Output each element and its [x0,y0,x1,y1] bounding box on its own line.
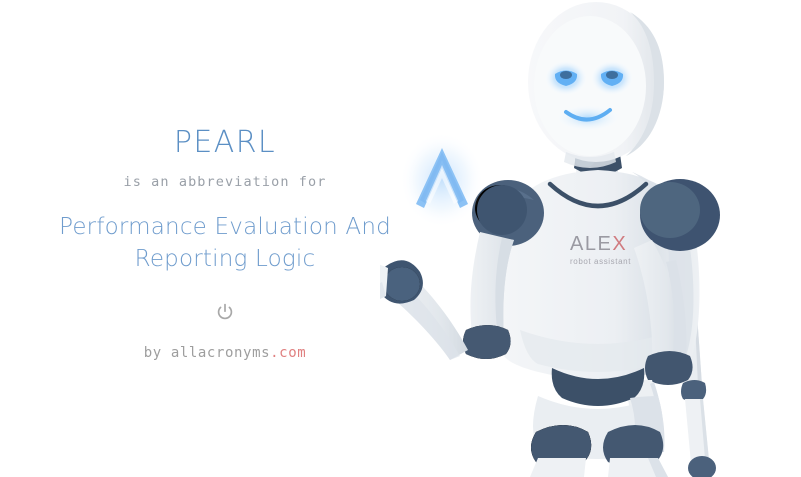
attribution-line[interactable]: by allacronyms.com [144,345,307,361]
power-icon[interactable] [216,303,234,321]
robot-head [528,2,664,168]
acronym-definition-page: ALEX robot assistant PEARL is an abbrevi… [0,0,801,477]
attribution-tld[interactable]: .com [270,345,306,361]
abbreviation-connector-text: is an abbreviation for [123,174,326,190]
attribution-brand[interactable]: allacronyms [171,345,270,361]
power-icon-container[interactable] [216,301,234,323]
definition-text-panel: PEARL is an abbreviation for Performance… [0,0,450,477]
chest-badge-name: ALEX [570,233,627,255]
attribution-by-label: by [144,345,162,361]
chest-badge-subtitle: robot assistant [570,257,631,266]
acronym-term: PEARL [174,128,276,158]
acronym-expansion: Performance Evaluation And Reporting Log… [45,212,405,275]
robot-chest-badge: ALEX robot assistant [570,233,631,266]
